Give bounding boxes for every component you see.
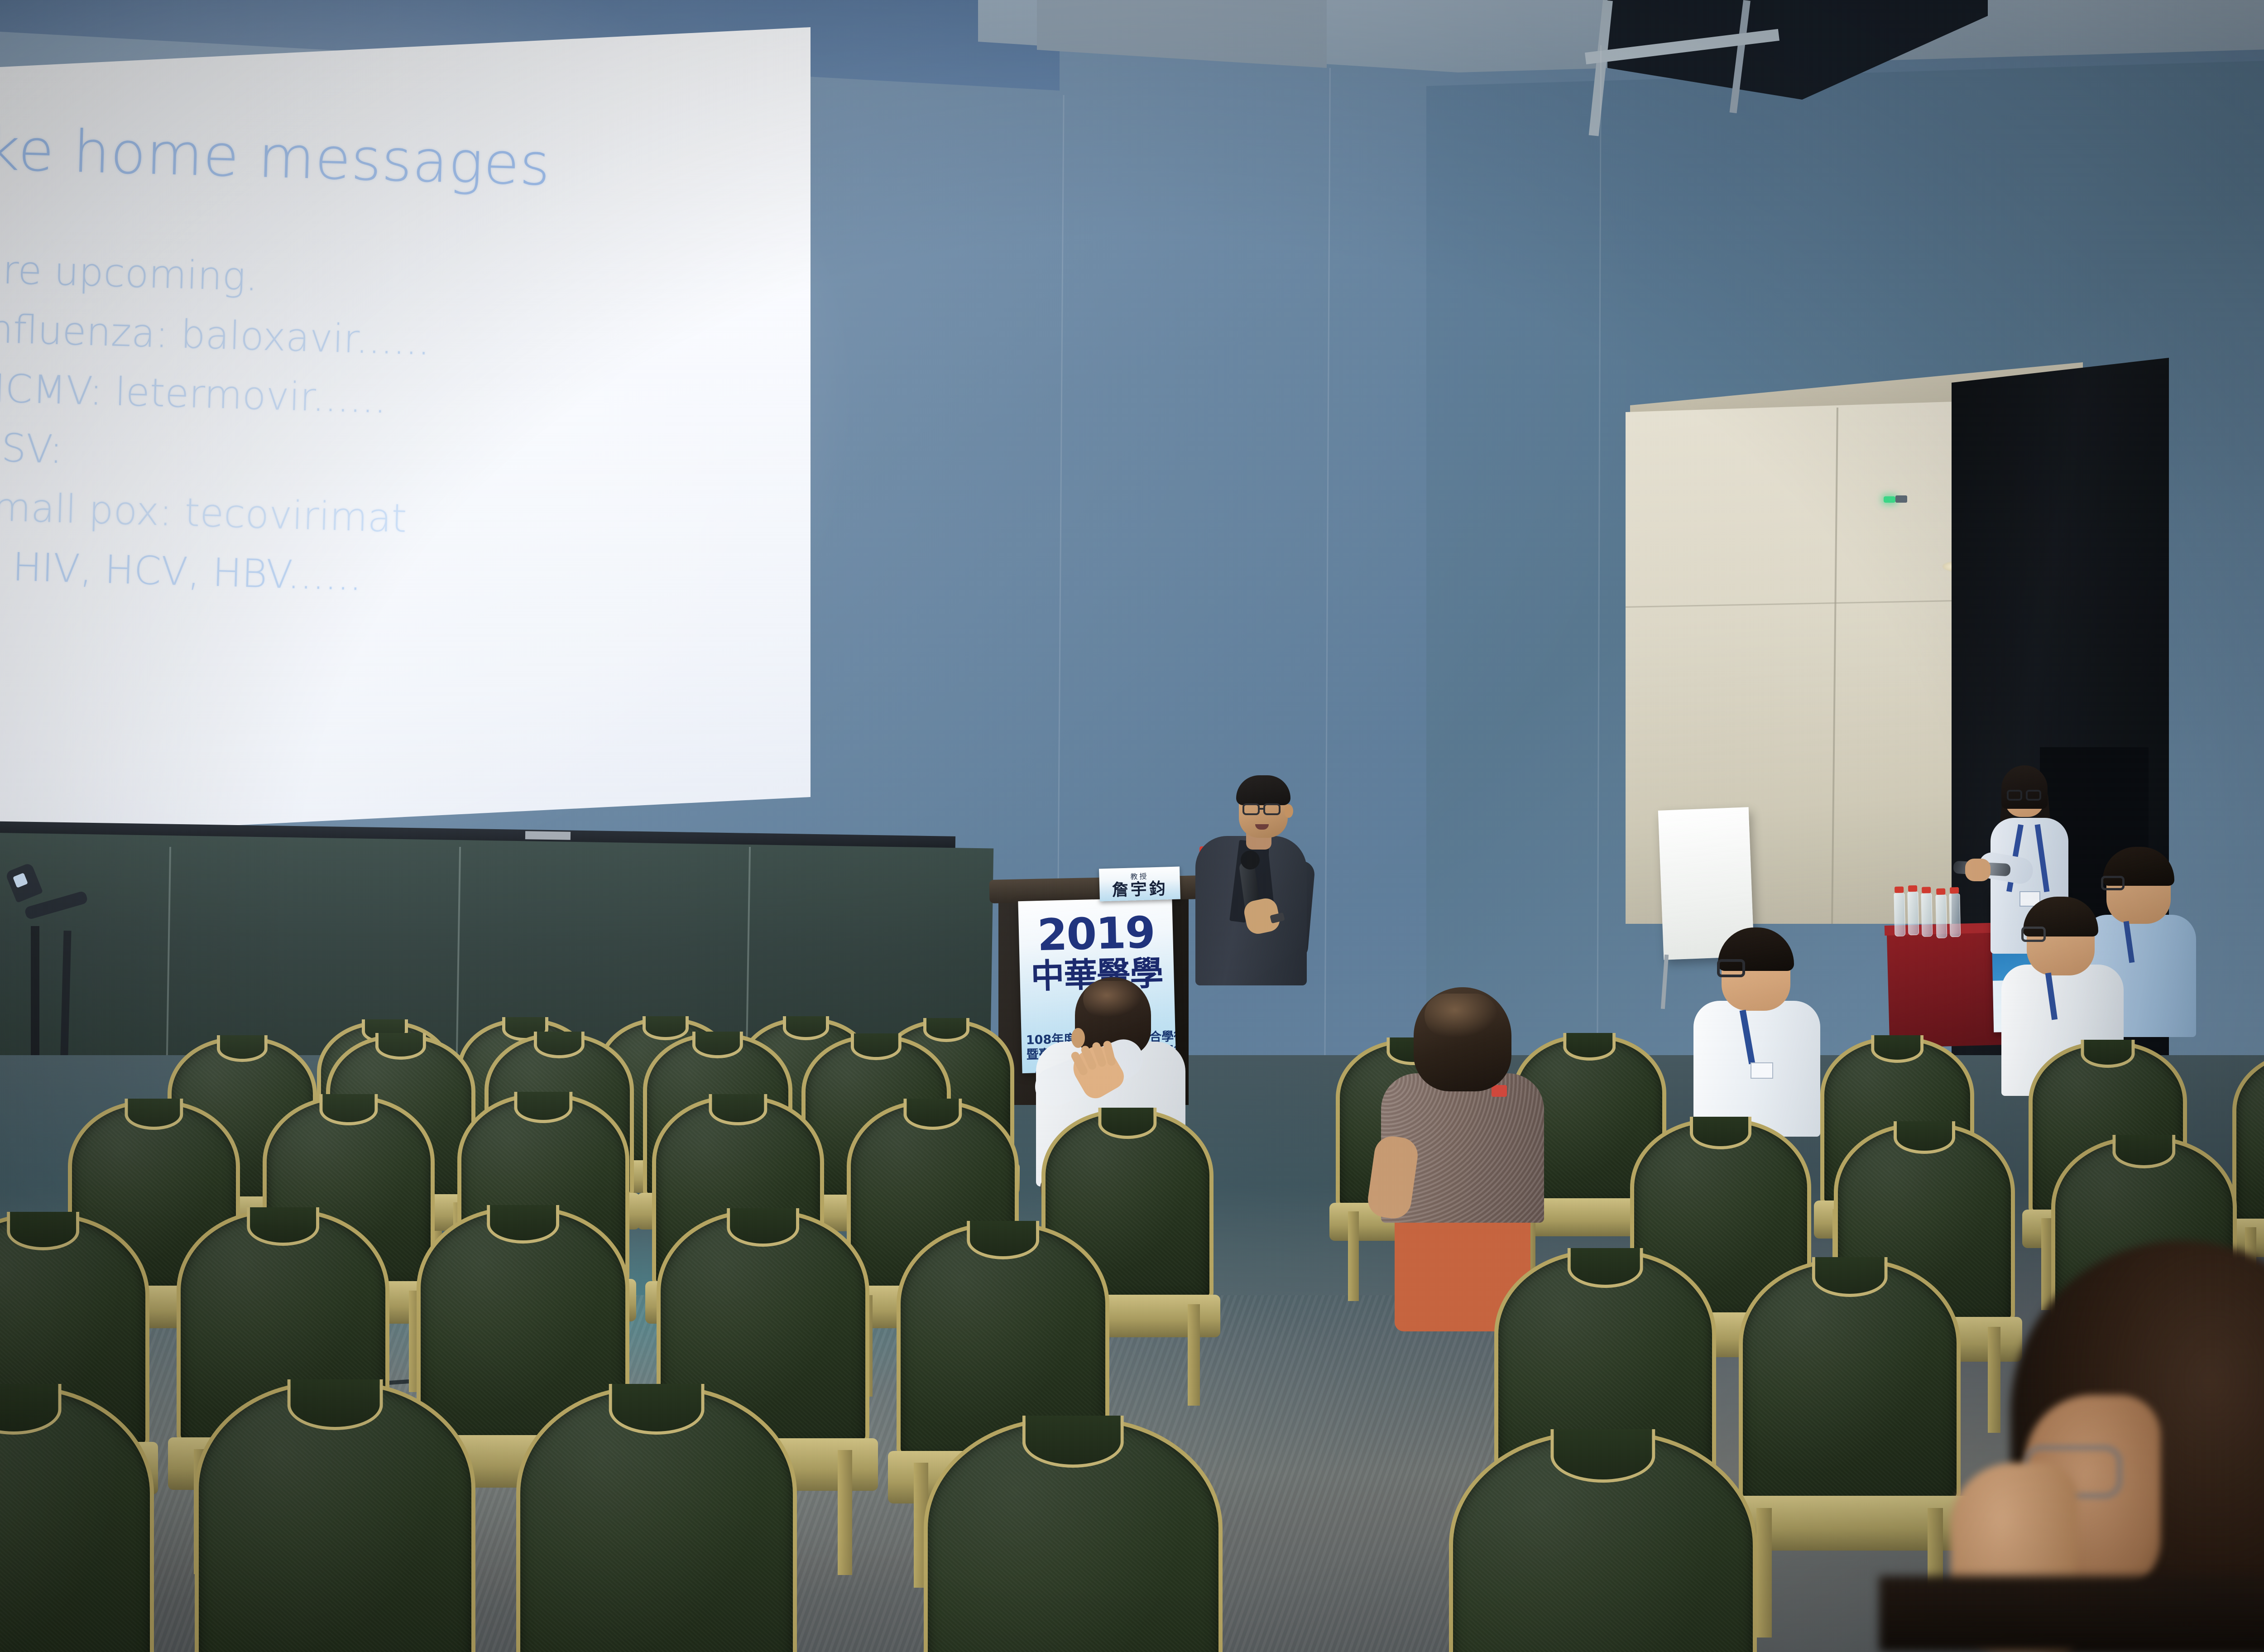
chair[interactable] — [195, 1381, 475, 1652]
chair-notch — [692, 1032, 743, 1058]
chair[interactable] — [924, 1417, 1223, 1652]
chair-leg — [1188, 1304, 1200, 1406]
staff-glasses-left-icon — [2007, 790, 2022, 801]
chair[interactable] — [2232, 1051, 2264, 1227]
chair-notch — [125, 1099, 183, 1130]
water-bottle — [1894, 893, 1905, 936]
person-glasses-icon — [2021, 927, 2046, 942]
water-bottle — [1921, 893, 1933, 936]
person-glasses-icon — [2101, 876, 2125, 890]
slide-bullet-1: drugs are upcoming. — [0, 237, 432, 312]
nameplate-name: 詹宇鈞 — [1099, 880, 1180, 900]
chair-notch — [903, 1099, 962, 1130]
chair[interactable] — [0, 1386, 154, 1652]
indicator-light-housing — [1895, 495, 1907, 503]
conference-hall-photo: Take home messages drugs are upcoming. g… — [0, 0, 2264, 1652]
chair-notch — [319, 1094, 378, 1125]
chair-notch — [2081, 1040, 2135, 1068]
banner-year: 2019 — [1023, 910, 1169, 957]
slide-bullet-list: drugs are upcoming. gs for influenza: ba… — [0, 237, 432, 609]
person-clip — [1492, 1085, 1507, 1097]
water-bottle — [1907, 892, 1919, 935]
screen-brand-label — [525, 831, 571, 840]
chair-notch — [7, 1212, 79, 1250]
chair[interactable] — [516, 1386, 797, 1652]
bottle-cap-icon — [1922, 887, 1931, 893]
chair-back — [2232, 1051, 2264, 1227]
chair-notch — [1690, 1117, 1751, 1149]
green-indicator-light-icon — [1884, 496, 1895, 503]
person-hair-highlight — [1425, 994, 1497, 1037]
chair-notch — [514, 1092, 572, 1123]
chair-leg — [1348, 1211, 1359, 1301]
bottle-cap-icon — [1908, 885, 1917, 892]
chair[interactable] — [1449, 1431, 1757, 1652]
water-bottle — [1935, 895, 1947, 938]
chair-notch — [2112, 1135, 2175, 1168]
speaker-ear — [1284, 804, 1293, 818]
chair-notch — [534, 1032, 585, 1058]
chair[interactable] — [1739, 1259, 1961, 1508]
chair-leg — [1756, 1508, 1772, 1638]
speaker-nameplate: 教授 詹宇鈞 — [1099, 867, 1180, 902]
chair-notch — [288, 1379, 383, 1430]
bottle-cap-icon — [1895, 887, 1904, 893]
chair-notch — [1098, 1108, 1156, 1139]
staff-glasses-right-icon — [2026, 790, 2041, 801]
chair-notch — [1568, 1248, 1643, 1288]
slide-content: Take home messages drugs are upcoming. g… — [0, 27, 810, 860]
chair-notch — [709, 1094, 767, 1125]
person-ear — [1071, 1028, 1085, 1048]
bottle-cap-icon — [1936, 888, 1945, 895]
foreground-person-shoulder — [1879, 1576, 2264, 1652]
bottle-cap-icon — [1950, 887, 1959, 893]
staff-hair — [2001, 765, 2048, 809]
staff-hand — [1965, 859, 1991, 881]
chair-notch — [1871, 1035, 1923, 1063]
projection-screen: Take home messages drugs are upcoming. g… — [0, 27, 811, 838]
person-hair-highlight — [1083, 981, 1142, 1017]
speaker-glasses-bridge — [1259, 808, 1265, 810]
chair-notch — [1894, 1121, 1955, 1154]
chair-notch — [1022, 1416, 1124, 1468]
chair-notch — [487, 1205, 559, 1244]
chair-leg — [2041, 1218, 2053, 1310]
person-glasses-icon — [1717, 959, 1745, 977]
slide-title: Take home messages — [0, 114, 552, 199]
chair-notch — [247, 1207, 319, 1246]
chair-notch — [375, 1033, 426, 1060]
chair-leg — [1988, 1327, 2000, 1433]
person-badge — [1751, 1062, 1773, 1079]
chair-notch — [967, 1221, 1039, 1259]
chair-notch — [851, 1033, 902, 1060]
chair-notch — [1550, 1429, 1655, 1483]
chair-notch — [217, 1035, 268, 1062]
speaker-glasses-left-icon — [1242, 803, 1260, 815]
chair-leg — [838, 1450, 853, 1575]
chair-notch — [1563, 1033, 1616, 1061]
chair-notch — [1812, 1257, 1888, 1297]
chair-notch — [727, 1208, 799, 1247]
chair-notch — [609, 1384, 705, 1435]
speaker-glasses-right-icon — [1263, 803, 1281, 815]
water-bottle — [1949, 893, 1961, 937]
